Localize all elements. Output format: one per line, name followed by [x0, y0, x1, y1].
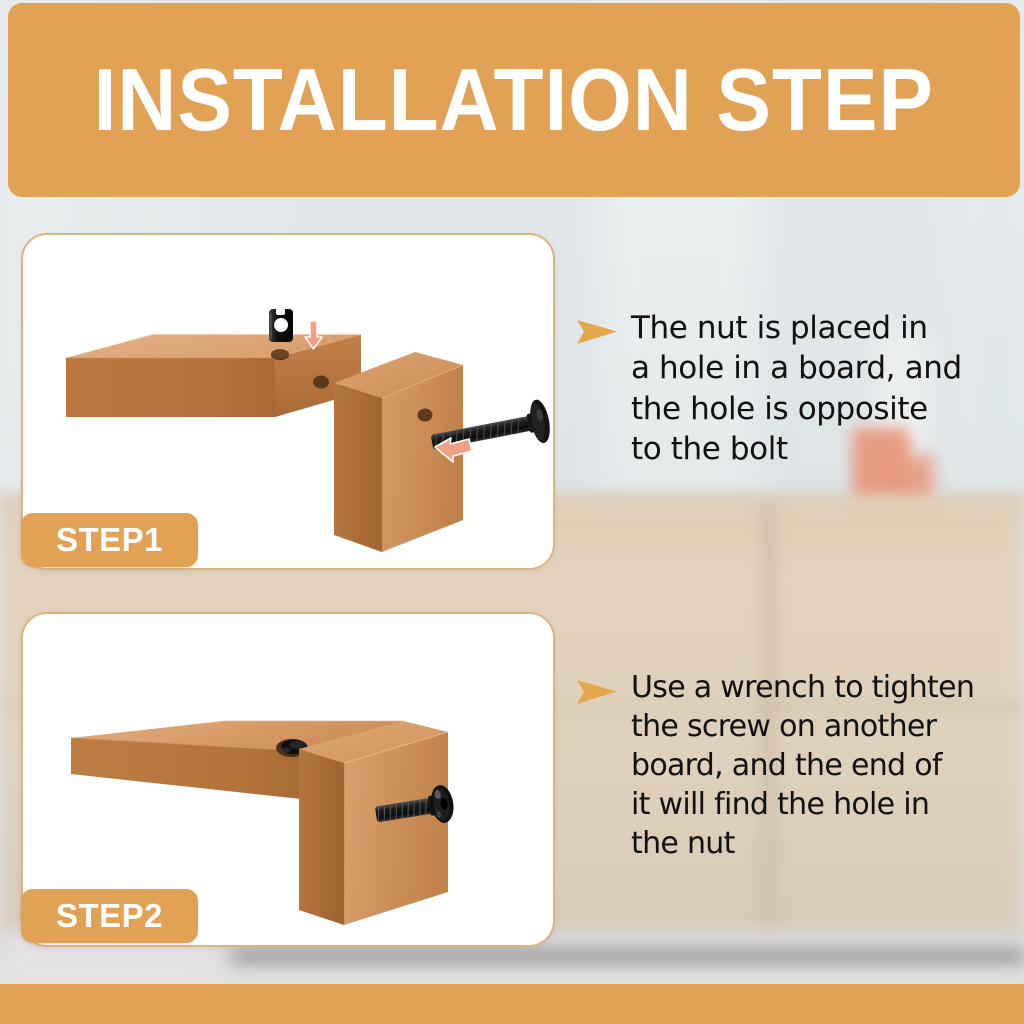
- background-baseboard: [200, 948, 1024, 965]
- step-1-description-text: The nut is placed in a hole in a board, …: [631, 308, 962, 469]
- step1-side-board-hole: [313, 376, 329, 389]
- step-1-description-block: The nut is placed in a hole in a board, …: [575, 308, 1020, 469]
- page-title: INSTALLATION STEP: [94, 56, 934, 144]
- footer-bar: [0, 984, 1024, 1024]
- step-badge-1-label: STEP1: [56, 521, 163, 559]
- step1-vertical-board-hole: [418, 409, 433, 422]
- triangle-right-arrow-icon: [575, 678, 619, 711]
- step-badge-1: STEP1: [21, 513, 198, 567]
- step-badge-2: STEP2: [21, 889, 198, 943]
- header-banner: INSTALLATION STEP: [8, 3, 1020, 197]
- step1-barrel-nut: [269, 307, 293, 342]
- step-2-description-text: Use a wrench to tighten the screw on ano…: [631, 668, 974, 863]
- step-2-description-block: Use a wrench to tighten the screw on ano…: [575, 668, 1024, 863]
- step-badge-2-label: STEP2: [56, 897, 163, 935]
- step2-vertical-board: [299, 721, 448, 925]
- step1-horizontal-board: [66, 334, 361, 417]
- triangle-right-arrow-icon: [575, 318, 619, 351]
